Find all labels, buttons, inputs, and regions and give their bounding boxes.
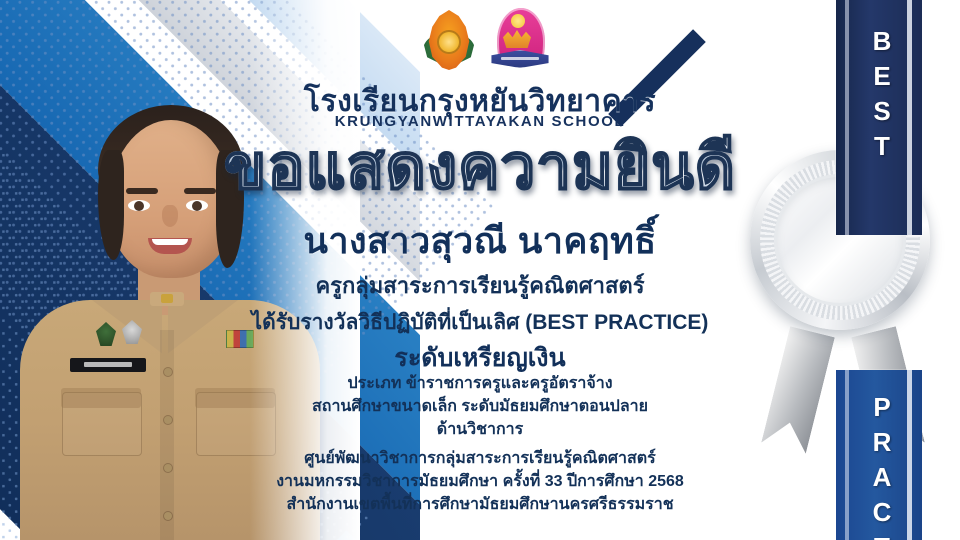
ribbon-word-best: BEST bbox=[866, 26, 897, 166]
footer-line: งานมหกรรมวิชาการมัธยมศึกษา ครั้งที่ 33 ป… bbox=[130, 470, 830, 493]
footer-line: สำนักงานเขตพื้นที่การศึกษามัธยมศึกษานครศ… bbox=[130, 493, 830, 516]
nose bbox=[162, 205, 178, 227]
uniform-nameplate bbox=[70, 358, 146, 372]
footer-line: ศูนย์พัฒนาวิชาการกลุ่มสาระการเรียนรู้คณิ… bbox=[130, 447, 830, 470]
eye-right bbox=[186, 200, 208, 211]
award-detail-line: ด้านวิชาการ bbox=[150, 418, 810, 441]
obec-emblem-icon bbox=[421, 6, 477, 76]
recipient-role: ครูกลุ่มสาระการเรียนรู้คณิตศาสตร์ bbox=[180, 268, 780, 303]
recipient-name: นางสาวสุวณี นาคฤทธิ์ bbox=[180, 212, 780, 269]
pocket-flap-left bbox=[61, 388, 141, 408]
award-detail-line: สถานศึกษาขนาดเล็ก ระดับมัธยมศึกษาตอนปลาย bbox=[150, 395, 810, 418]
eye-left bbox=[128, 200, 150, 211]
award-details: ประเภท ข้าราชการครูและครูอัตราจ้าง สถานศ… bbox=[150, 372, 810, 442]
award-title: ได้รับรางวัลวิธีปฏิบัติที่เป็นเลิศ (BEST… bbox=[150, 306, 810, 339]
hair-left bbox=[98, 150, 124, 260]
emblem-row bbox=[420, 6, 550, 78]
ribbon-word-practice: PRACTICE bbox=[866, 392, 897, 540]
best-practice-ribbon: BEST PRACTICE bbox=[836, 0, 922, 540]
school-name-english: KRUNGYANWITTAYAKAN SCHOOL bbox=[180, 113, 780, 130]
epaulet bbox=[150, 292, 184, 306]
congratulations-headline: ขอแสดงความยินดี bbox=[150, 135, 810, 200]
school-crest-icon bbox=[493, 6, 549, 76]
award-detail-line: ประเภท ข้าราชการครูและครูอัตราจ้าง bbox=[150, 372, 810, 395]
footer-block: ศูนย์พัฒนาวิชาการกลุ่มสาระการเรียนรู้คณิ… bbox=[130, 447, 830, 517]
certificate-banner: โรงเรียนกรุงหยันวิทยาคาร KRUNGYANWITTAYA… bbox=[0, 0, 960, 540]
